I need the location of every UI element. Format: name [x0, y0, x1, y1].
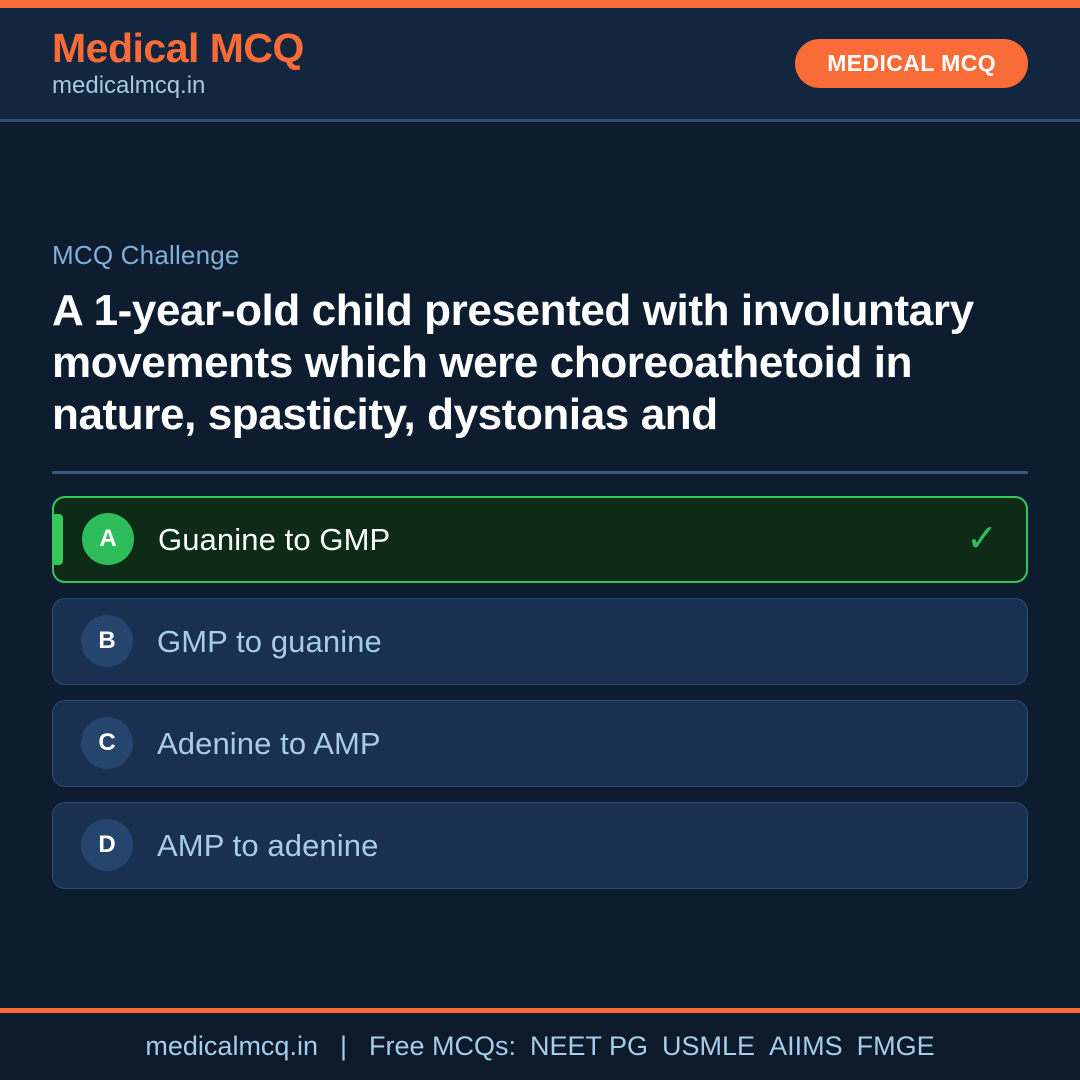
brand-title: Medical MCQ [52, 27, 304, 70]
option-a-badge: A [82, 513, 134, 565]
option-d[interactable]: D AMP to adenine [52, 802, 1028, 889]
footer-exam-neet-pg: NEET PG [530, 1032, 662, 1062]
option-c[interactable]: C Adenine to AMP [52, 700, 1028, 787]
options-list: A Guanine to GMP ✓ B GMP to guanine C Ad… [52, 496, 1028, 889]
top-accent-bar [0, 0, 1080, 8]
check-icon: ✓ [966, 520, 998, 558]
footer-site-label: medicalmcq.in [145, 1032, 340, 1062]
option-a[interactable]: A Guanine to GMP ✓ [52, 496, 1028, 583]
brand: Medical MCQ medicalmcq.in [52, 27, 304, 100]
footer-content: medicalmcq.in | Free MCQs: NEET PG USMLE… [145, 1032, 934, 1062]
kicker-label: MCQ Challenge [52, 240, 1028, 271]
option-b[interactable]: B GMP to guanine [52, 598, 1028, 685]
option-d-badge: D [81, 819, 133, 871]
option-a-text: Guanine to GMP [158, 521, 952, 558]
mcq-card: Medical MCQ medicalmcq.in MEDICAL MCQ MC… [0, 0, 1080, 1080]
option-d-text: AMP to adenine [157, 827, 999, 864]
option-c-text: Adenine to AMP [157, 725, 999, 762]
footer-free-mcqs-label: Free MCQs: [369, 1032, 530, 1062]
option-b-badge: B [81, 615, 133, 667]
footer: medicalmcq.in | Free MCQs: NEET PG USMLE… [0, 1008, 1080, 1080]
main-content: MCQ Challenge A 1-year-old child present… [0, 122, 1080, 1008]
header: Medical MCQ medicalmcq.in MEDICAL MCQ [0, 8, 1080, 122]
header-badge: MEDICAL MCQ [795, 39, 1028, 88]
question-divider [52, 471, 1028, 474]
correct-accent-bar [54, 514, 63, 565]
brand-subtitle: medicalmcq.in [52, 72, 304, 100]
footer-exam-fmge: FMGE [857, 1032, 935, 1062]
question-text: A 1-year-old child presented with involu… [52, 285, 1028, 441]
option-b-text: GMP to guanine [157, 623, 999, 660]
footer-exam-usmle: USMLE [662, 1032, 769, 1062]
footer-separator: | [340, 1032, 369, 1062]
footer-exam-aiims: AIIMS [769, 1032, 857, 1062]
option-c-badge: C [81, 717, 133, 769]
